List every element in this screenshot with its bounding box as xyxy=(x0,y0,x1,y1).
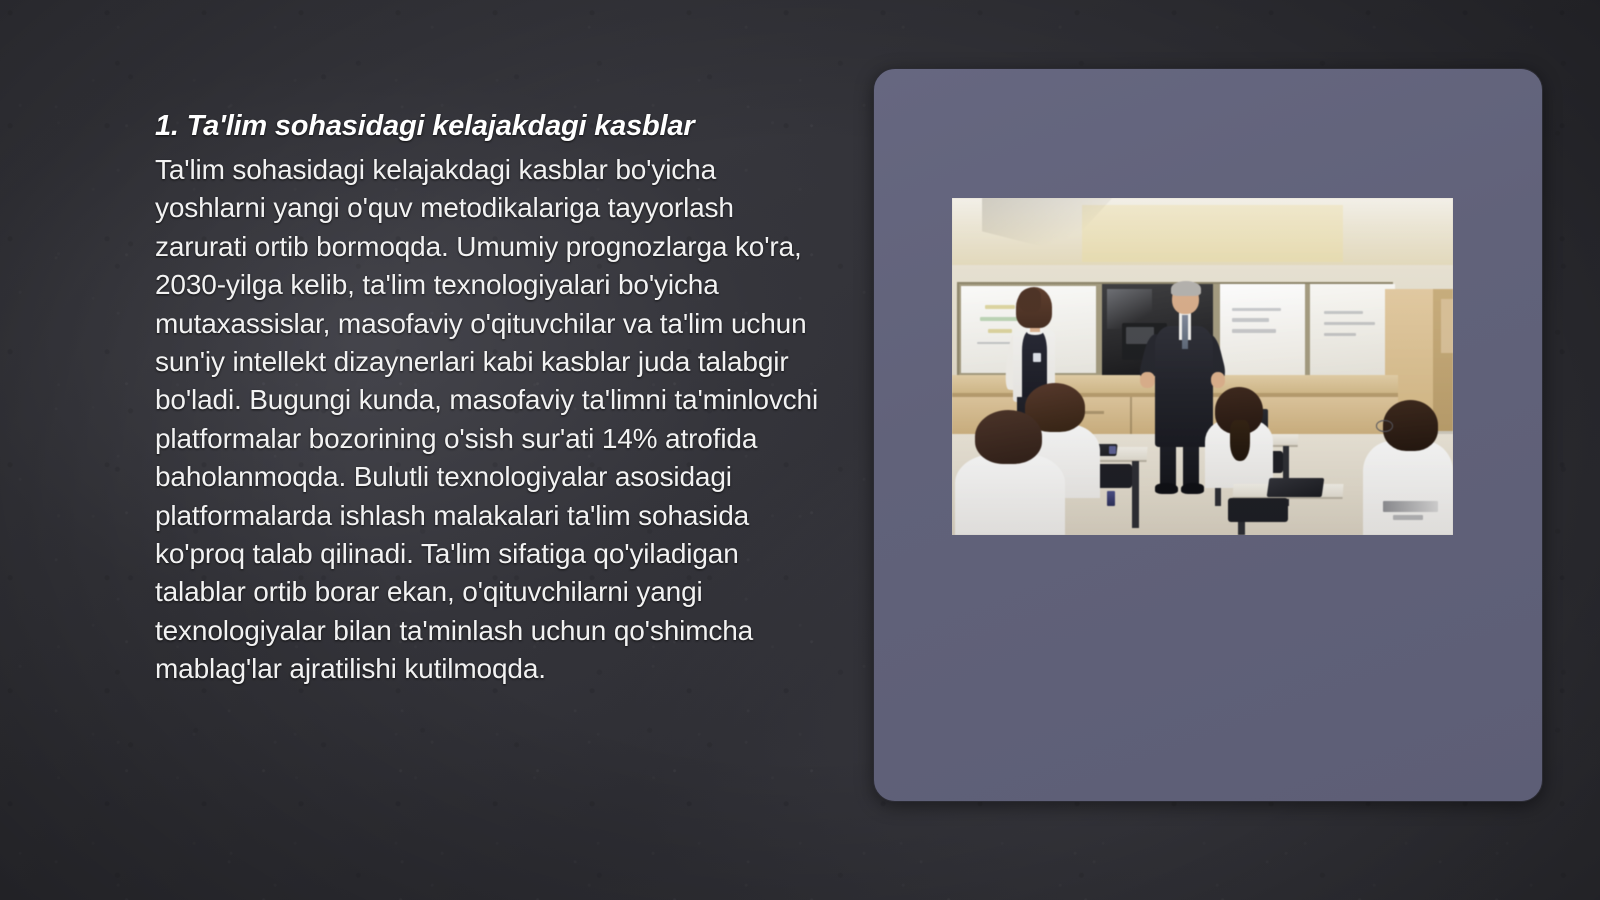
page-title: 1. Ta'lim sohasidagi kelajakdagi kasblar xyxy=(155,104,825,149)
photo-speaker-left-shoe xyxy=(1155,483,1178,494)
photo-board-text-line xyxy=(1324,311,1363,314)
photo-speaker-tie xyxy=(1182,315,1188,349)
photo-render-layer xyxy=(952,198,1453,535)
photo-student-ponytail xyxy=(1230,420,1250,460)
photo-board-text-line xyxy=(1324,322,1375,325)
photo-board-mark xyxy=(985,305,1015,309)
photo-speaker-right-hand xyxy=(1211,372,1226,388)
photo-chair xyxy=(1228,498,1288,522)
photo-paper-print xyxy=(1393,515,1423,520)
photo-speaker-right-shoe xyxy=(1181,483,1204,494)
body-paragraph: Ta'lim sohasidagi kelajakdagi kasblar bo… xyxy=(155,151,825,689)
photo-board-text-line xyxy=(1232,329,1276,332)
photo-student-glasses xyxy=(1376,420,1393,431)
photo-student-head xyxy=(975,410,1043,464)
photo-board-text-line xyxy=(1232,318,1269,321)
photo-whiteboard-right-1 xyxy=(1220,284,1305,375)
photo-desk-object xyxy=(1109,446,1116,454)
photo-desk-object xyxy=(1107,491,1115,506)
photo-board-mark xyxy=(980,317,1021,321)
photo-speaker-left-hand xyxy=(1140,372,1155,388)
photo-cupboard-seam xyxy=(1130,397,1132,437)
photo-speaker-hair xyxy=(1171,281,1201,297)
photo-board-text-line xyxy=(1324,333,1356,336)
text-column: 1. Ta'lim sohasidagi kelajakdagi kasblar… xyxy=(155,104,825,689)
photo-ceiling-warm-panel xyxy=(1082,205,1343,262)
photo-teacher-fringe xyxy=(1018,288,1041,312)
classroom-photo xyxy=(952,198,1453,535)
media-card xyxy=(873,68,1543,802)
slide-canvas: 1. Ta'lim sohasidagi kelajakdagi kasblar… xyxy=(0,0,1600,900)
photo-board-mark xyxy=(988,329,1012,333)
photo-student-body xyxy=(1363,441,1453,535)
photo-desk-leg xyxy=(1132,461,1139,528)
photo-laptop xyxy=(1266,478,1324,497)
photo-teacher-badge xyxy=(1033,353,1041,362)
photo-paper-print xyxy=(1383,501,1438,512)
photo-student-body xyxy=(955,454,1065,535)
photo-board-text-line xyxy=(1232,308,1281,311)
photo-cabinet-panel xyxy=(1441,299,1453,353)
photo-whiteboard-right-2 xyxy=(1310,284,1395,375)
